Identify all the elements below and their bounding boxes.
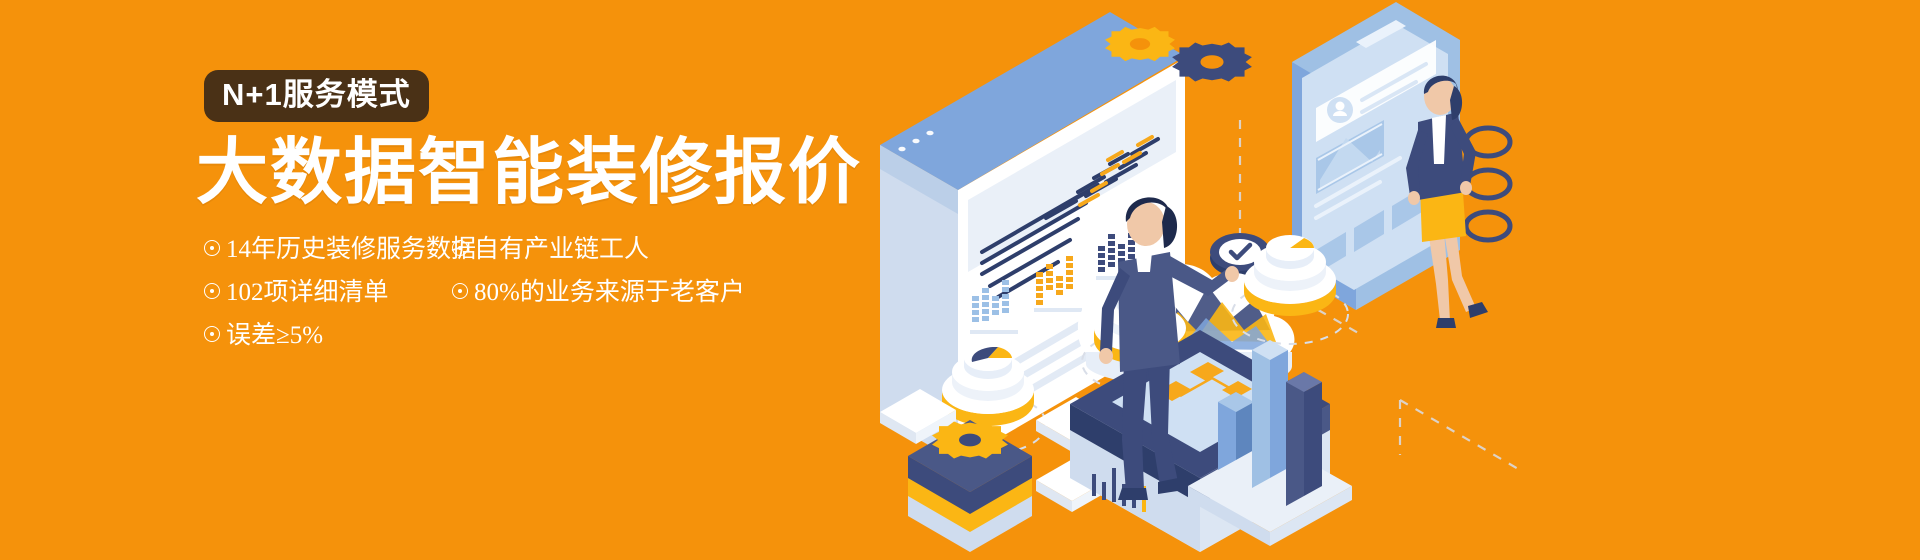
page-title: 大数据智能装修报价 xyxy=(196,136,876,212)
feature-list: 14年历史装修服务数据 自有产业链工人 102项详细清单 80%的业务来源于老客… xyxy=(204,234,876,352)
feature-label: 自有产业链工人 xyxy=(474,234,649,265)
ring-stack xyxy=(1466,128,1510,240)
feature-label: 14年历史装修服务数据 xyxy=(226,234,476,265)
circled-dot-icon xyxy=(204,283,220,299)
feature-item: 14年历史装修服务数据 xyxy=(204,234,452,265)
feature-item: 102项详细清单 xyxy=(204,277,452,308)
circled-dot-icon xyxy=(452,240,468,256)
feature-label: 102项详细清单 xyxy=(226,277,389,308)
feature-item: 80%的业务来源于老客户 xyxy=(452,277,745,308)
promo-banner: N+1服务模式 大数据智能装修报价 14年历史装修服务数据 自有产业链工人 10… xyxy=(0,0,1920,560)
circled-dot-icon xyxy=(452,283,468,299)
service-mode-badge: N+1服务模式 xyxy=(204,70,429,122)
feature-item: 自有产业链工人 xyxy=(452,234,649,265)
feature-label: 误差≥5% xyxy=(226,320,323,351)
text-block: N+1服务模式 大数据智能装修报价 14年历史装修服务数据 自有产业链工人 10… xyxy=(196,70,876,363)
feature-item: 误差≥5% xyxy=(204,320,452,351)
list-item: 14年历史装修服务数据 自有产业链工人 xyxy=(204,234,876,265)
gear-navy xyxy=(1172,43,1252,82)
gear-orange-top xyxy=(1105,27,1175,61)
circled-dot-icon xyxy=(204,326,220,342)
isometric-illustration xyxy=(840,0,1920,560)
list-item: 102项详细清单 80%的业务来源于老客户 xyxy=(204,277,876,308)
list-item: 误差≥5% xyxy=(204,320,876,351)
feature-label: 80%的业务来源于老客户 xyxy=(474,277,745,308)
circled-dot-icon xyxy=(204,240,220,256)
